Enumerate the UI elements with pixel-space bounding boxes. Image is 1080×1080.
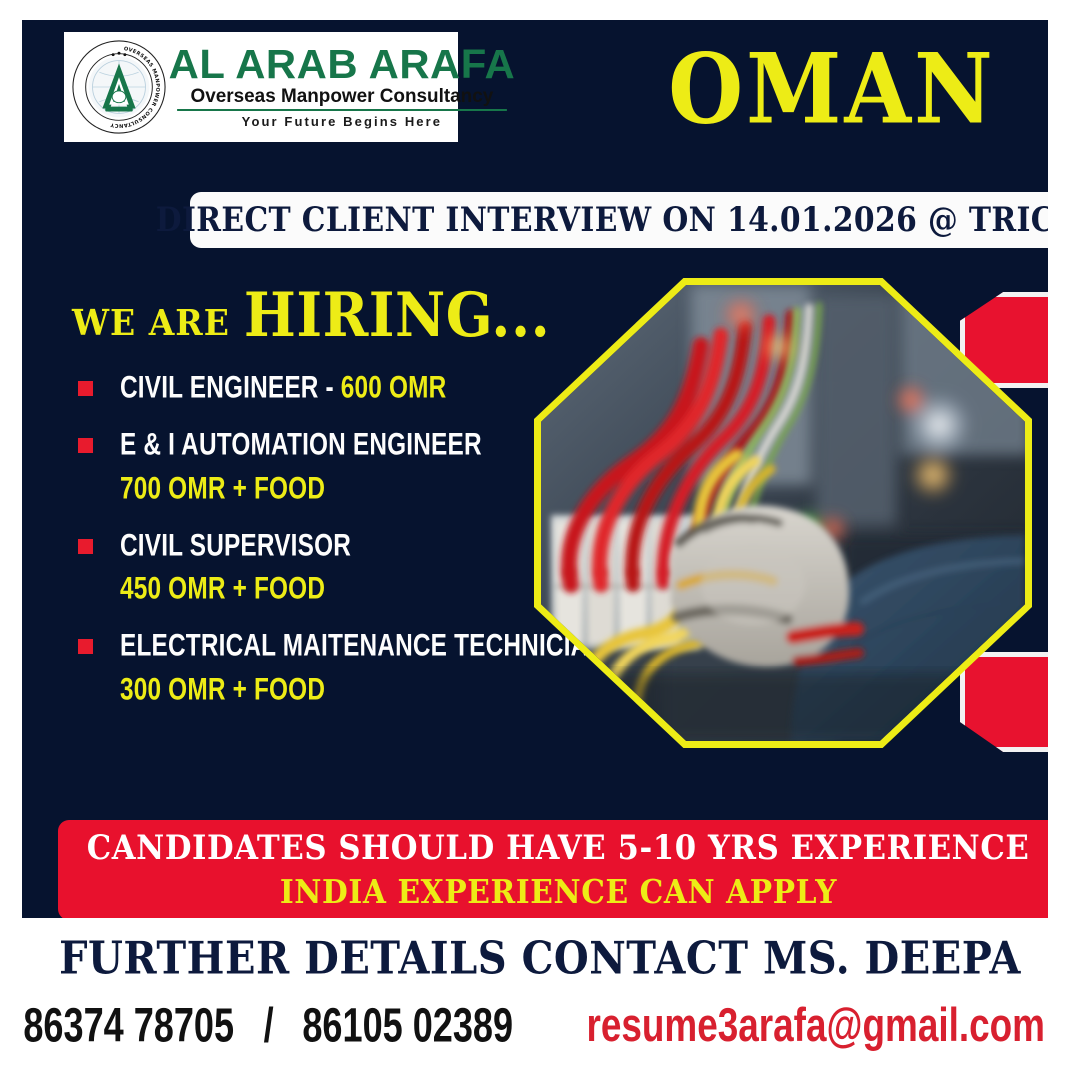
experience-eligibility-line: INDIA EXPERIENCE CAN APPLY (279, 873, 836, 912)
job-list: CIVIL ENGINEER - 600 OMR E & I AUTOMATIO… (78, 372, 598, 731)
company-logo-block: OVERSEAS MANPOWER CONSULTANCY AL ARAB AR… (64, 32, 458, 142)
bullet-square-icon (78, 639, 93, 654)
decorative-hexagon-bottom (960, 652, 1048, 752)
job-salary: 700 OMR + FOOD (120, 470, 560, 507)
country-headline: OMAN (622, 42, 1042, 138)
list-item: CIVIL SUPERVISOR 450 OMR + FOOD (78, 530, 598, 605)
company-logo-text: AL ARAB ARAFA Overseas Manpower Consulta… (168, 45, 512, 129)
job-salary: 450 OMR + FOOD (120, 570, 560, 607)
hero-photo-frame (534, 278, 1032, 748)
footer-contact-row: 86374 78705 / 86105 02389 resume3arafa@g… (0, 1002, 1080, 1049)
email-address[interactable]: resume3arafa@gmail.com (587, 998, 1045, 1053)
bullet-square-icon (78, 539, 93, 554)
interview-banner: DIRECT CLIENT INTERVIEW ON 14.01.2026 @ … (190, 192, 1048, 248)
list-item: E & I AUTOMATION ENGINEER 700 OMR + FOOD (78, 429, 598, 504)
phone-number-2[interactable]: 86105 02389 (302, 998, 513, 1053)
recruitment-poster: OVERSEAS MANPOWER CONSULTANCY AL ARAB AR… (0, 0, 1080, 1080)
list-item: CIVIL ENGINEER - 600 OMR (78, 372, 598, 403)
company-tagline: Your Future Begins Here (172, 114, 512, 130)
list-item: ELECTRICAL MAITENANCE TECHNICIAN 300 OMR… (78, 630, 598, 705)
job-salary: 300 OMR + FOOD (120, 671, 560, 708)
experience-banner: CANDIDATES SHOULD HAVE 5-10 YRS EXPERIEN… (58, 820, 1048, 918)
bullet-square-icon (78, 438, 93, 453)
phone-separator: / (263, 998, 273, 1053)
poster-navy-panel: OVERSEAS MANPOWER CONSULTANCY AL ARAB AR… (22, 20, 1048, 918)
job-title: E & I AUTOMATION ENGINEER (120, 426, 482, 463)
company-subtitle: Overseas Manpower Consultancy (177, 86, 507, 111)
job-title: CIVIL SUPERVISOR (120, 527, 351, 564)
company-emblem-icon: OVERSEAS MANPOWER CONSULTANCY (70, 38, 168, 136)
job-title: ELECTRICAL MAITENANCE TECHNICIAN (120, 628, 606, 665)
phone-number-1[interactable]: 86374 78705 (24, 998, 235, 1053)
footer-contact-heading: FURTHER DETAILS CONTACT MS. DEEPA (0, 932, 1080, 985)
interview-banner-text: DIRECT CLIENT INTERVIEW ON 14.01.2026 @ … (155, 200, 1048, 240)
company-name: AL ARAB ARAFA (169, 45, 516, 85)
hiring-lead-text: WE ARE (72, 301, 230, 343)
hiring-headline-text: HIRING... (244, 279, 550, 351)
job-title: CIVIL ENGINEER - 600 OMR (120, 369, 446, 406)
hiring-heading: WE ARE HIRING... (72, 282, 550, 347)
experience-requirement-line: CANDIDATES SHOULD HAVE 5-10 YRS EXPERIEN… (87, 828, 1030, 868)
hero-photo (541, 285, 1025, 741)
bullet-square-icon (78, 381, 93, 396)
